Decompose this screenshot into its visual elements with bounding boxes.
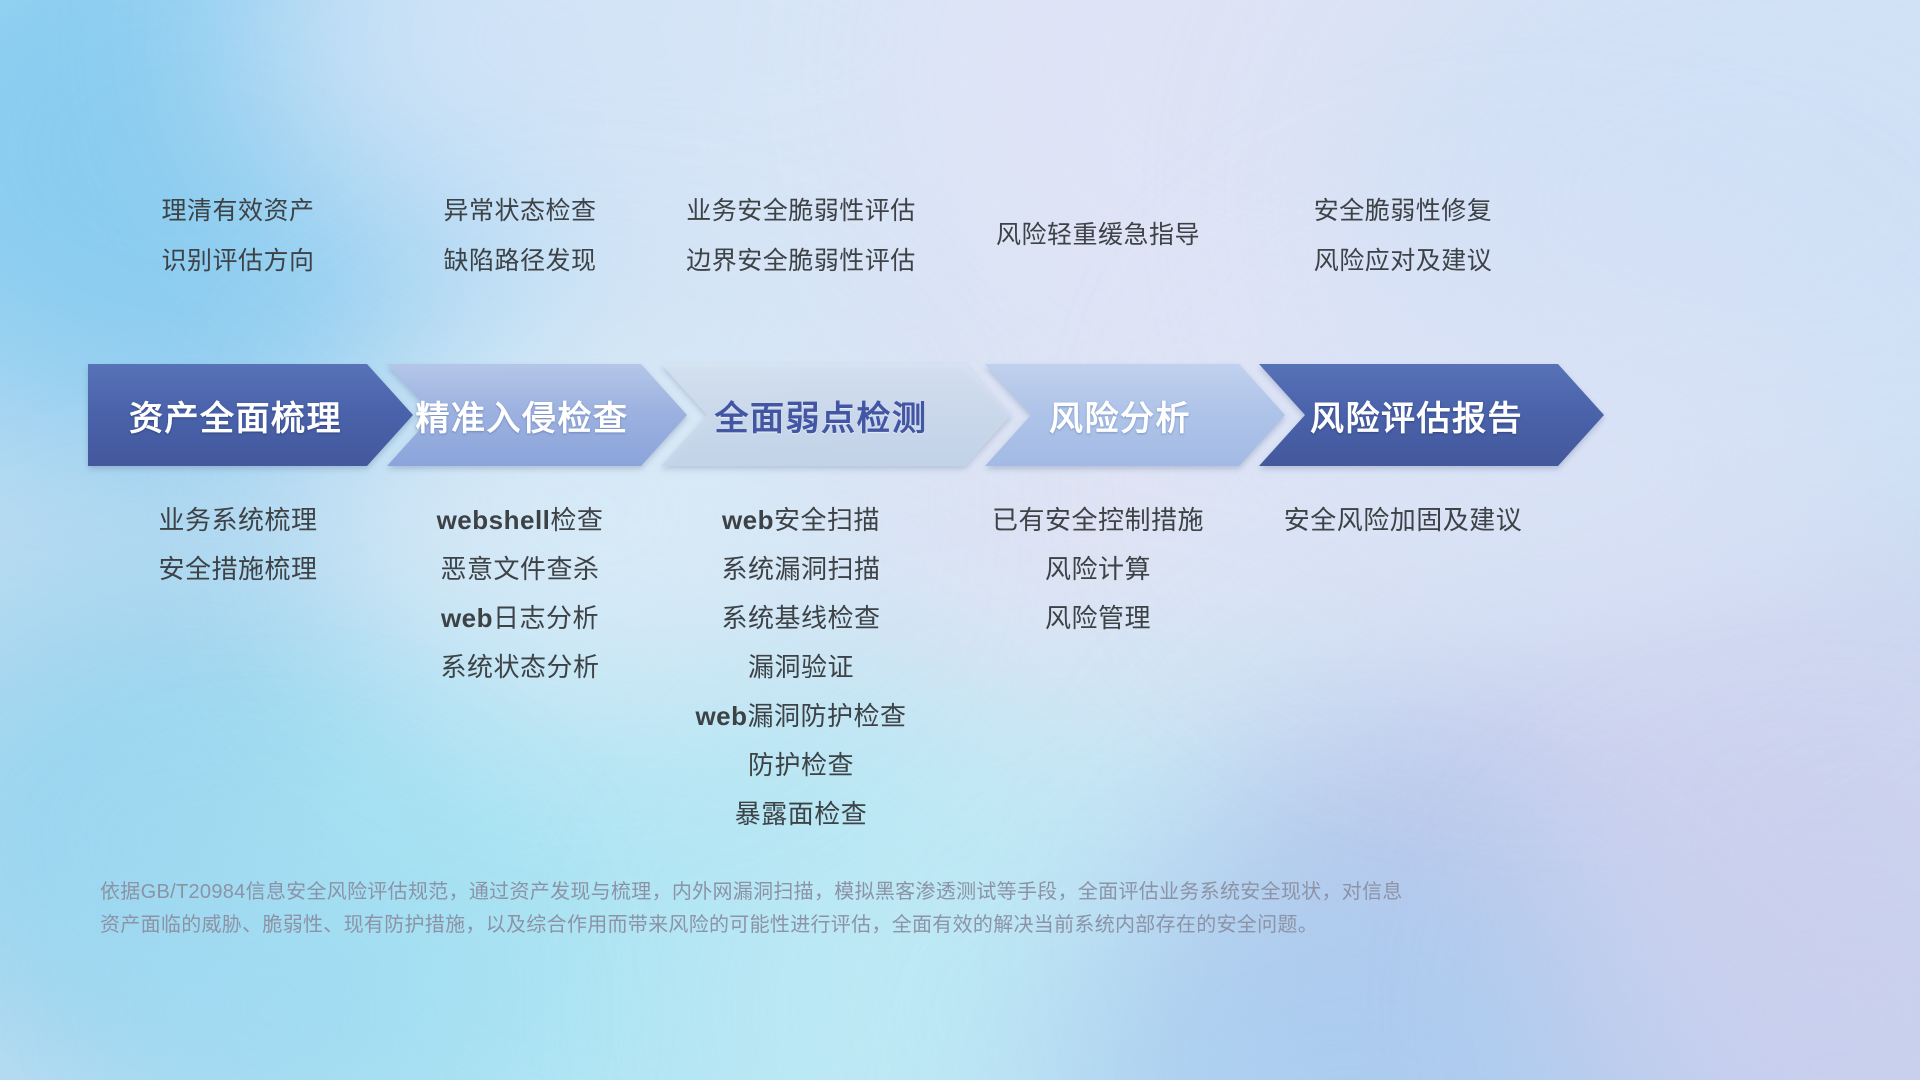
annotation-line: 缺陷路径发现 — [370, 236, 670, 286]
stage-top-annotation: 风险轻重缓急指导 — [948, 210, 1248, 260]
detail-item: 安全措施梳理 — [88, 545, 388, 594]
detail-item: 安全风险加固及建议 — [1238, 496, 1568, 545]
stage-arrow-band: 资产全面梳理精准入侵检查全面弱点检测风险分析风险评估报告 — [88, 364, 1846, 466]
detail-item: 暴露面检查 — [636, 790, 966, 839]
detail-item: 风险计算 — [948, 545, 1248, 594]
detail-item-text: 漏洞防护检查 — [748, 701, 907, 731]
detail-item: 漏洞验证 — [636, 643, 966, 692]
stage-top-annotation: 业务安全脆弱性评估边界安全脆弱性评估 — [636, 186, 966, 286]
footer-line-2: 资产面临的威胁、脆弱性、现有防护措施，以及综合作用而带来风险的可能性进行评估，全… — [100, 909, 1740, 942]
detail-item-text: 恶意文件查杀 — [440, 554, 599, 584]
stage-detail-list: 业务系统梳理安全措施梳理 — [88, 496, 388, 594]
annotation-line: 识别评估方向 — [88, 236, 388, 286]
detail-item-latin: web — [722, 505, 774, 535]
detail-item-text: 已有安全控制措施 — [992, 505, 1204, 535]
annotation-line: 异常状态检查 — [370, 186, 670, 236]
annotation-line: 边界安全脆弱性评估 — [636, 236, 966, 286]
annotation-line: 风险应对及建议 — [1238, 236, 1568, 286]
detail-item: 系统状态分析 — [370, 643, 670, 692]
stage-top-annotation: 安全脆弱性修复风险应对及建议 — [1238, 186, 1568, 286]
detail-item-latin: web — [441, 603, 493, 633]
detail-item: 恶意文件查杀 — [370, 545, 670, 594]
detail-item: web安全扫描 — [636, 496, 966, 545]
stage-detail-list: webshell检查恶意文件查杀web日志分析系统状态分析 — [370, 496, 670, 692]
detail-item-text: 系统漏洞扫描 — [721, 554, 880, 584]
detail-item-text: 漏洞验证 — [748, 652, 854, 682]
stage-top-annotation: 理清有效资产识别评估方向 — [88, 186, 388, 286]
detail-item-text: 防护检查 — [748, 750, 854, 780]
annotation-line: 安全脆弱性修复 — [1238, 186, 1568, 236]
stage-top-annotation: 异常状态检查缺陷路径发现 — [370, 186, 670, 286]
stage-arrow-2[interactable]: 精准入侵检查 — [387, 364, 687, 466]
process-diagram: 理清有效资产识别评估方向异常状态检查缺陷路径发现业务安全脆弱性评估边界安全脆弱性… — [0, 0, 1920, 1080]
stage-detail-list: web安全扫描系统漏洞扫描系统基线检查漏洞验证web漏洞防护检查防护检查暴露面检… — [636, 496, 966, 839]
detail-item-text: 系统基线检查 — [721, 603, 880, 633]
stage-title: 精准入侵检查 — [416, 391, 629, 440]
detail-item: 业务系统梳理 — [88, 496, 388, 545]
detail-item: 系统漏洞扫描 — [636, 545, 966, 594]
stage-title: 资产全面梳理 — [129, 391, 342, 440]
stage-arrow-4[interactable]: 风险分析 — [985, 364, 1285, 466]
stage-detail-list: 已有安全控制措施风险计算风险管理 — [948, 496, 1248, 643]
stage-arrow-5[interactable]: 风险评估报告 — [1259, 364, 1604, 466]
annotation-line: 风险轻重缓急指导 — [948, 210, 1248, 260]
annotation-line: 业务安全脆弱性评估 — [636, 186, 966, 236]
footer-description: 依据GB/T20984信息安全风险评估规范，通过资产发现与梳理，内外网漏洞扫描，… — [100, 876, 1740, 942]
detail-item-text: 系统状态分析 — [440, 652, 599, 682]
stage-title: 风险分析 — [1049, 391, 1191, 440]
stage-arrow-1[interactable]: 资产全面梳理 — [88, 364, 413, 466]
detail-item: 已有安全控制措施 — [948, 496, 1248, 545]
detail-item-text: 日志分析 — [493, 603, 599, 633]
detail-item-text: 暴露面检查 — [735, 799, 868, 829]
detail-item: 风险管理 — [948, 594, 1248, 643]
detail-item-text: 安全风险加固及建议 — [1284, 505, 1523, 535]
detail-item: 防护检查 — [636, 741, 966, 790]
detail-item: webshell检查 — [370, 496, 670, 545]
detail-item: web漏洞防护检查 — [636, 692, 966, 741]
detail-item-text: 风险管理 — [1045, 603, 1151, 633]
footer-line-1: 依据GB/T20984信息安全风险评估规范，通过资产发现与梳理，内外网漏洞扫描，… — [100, 876, 1740, 909]
detail-item: 系统基线检查 — [636, 594, 966, 643]
detail-item-text: 安全扫描 — [774, 505, 880, 535]
detail-item: web日志分析 — [370, 594, 670, 643]
detail-item-text: 风险计算 — [1045, 554, 1151, 584]
stage-arrow-3[interactable]: 全面弱点检测 — [661, 364, 1011, 466]
detail-item-text: 检查 — [550, 505, 603, 535]
stage-title: 全面弱点检测 — [715, 391, 928, 440]
stage-title: 风险评估报告 — [1310, 391, 1523, 440]
stage-detail-list: 安全风险加固及建议 — [1238, 496, 1568, 545]
annotation-line: 理清有效资产 — [88, 186, 388, 236]
detail-item-text: 业务系统梳理 — [158, 505, 317, 535]
detail-item-latin: webshell — [437, 505, 551, 535]
detail-item-text: 安全措施梳理 — [158, 554, 317, 584]
detail-item-latin: web — [695, 701, 747, 731]
